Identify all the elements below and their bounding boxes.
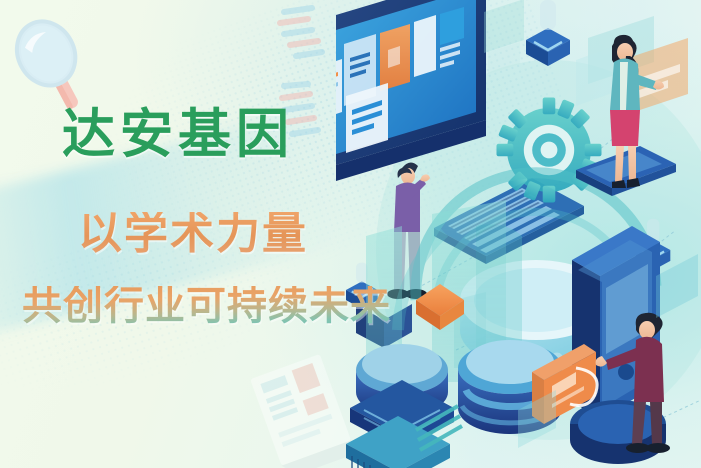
poster-canvas: 达安基因 以学术力量 共创行业可持续未来 (0, 0, 701, 468)
magnifier-icon (10, 14, 96, 118)
dna-helix-icon (276, 4, 332, 150)
isometric-tech-illustration (336, 0, 701, 468)
